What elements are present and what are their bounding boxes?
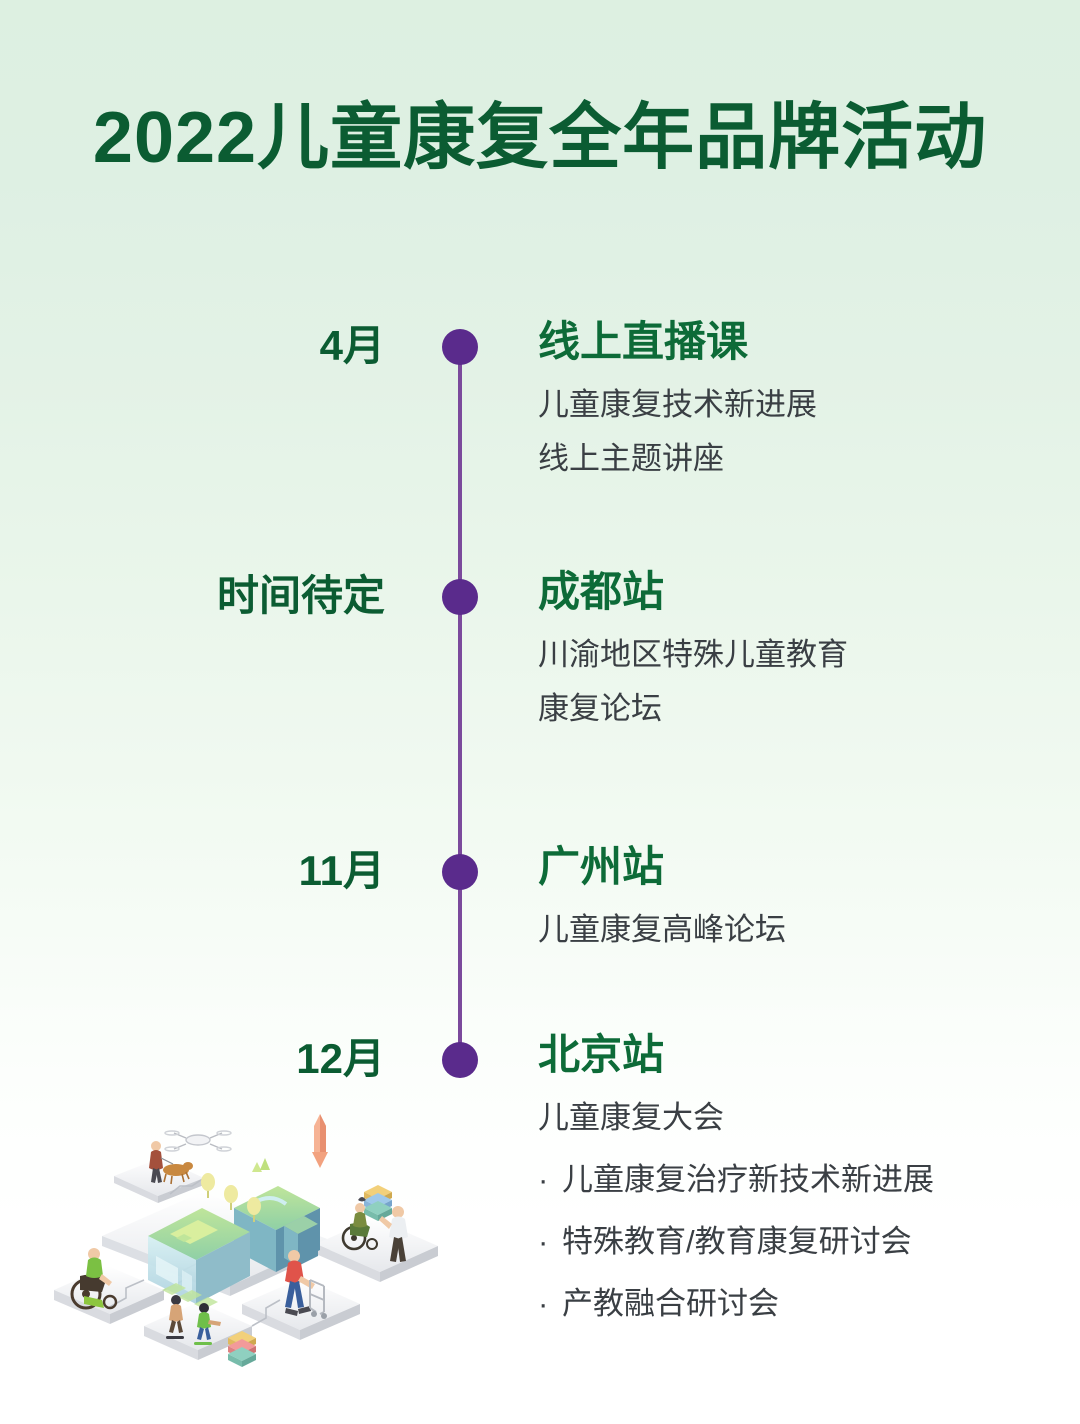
timeline-entry-heading: 成都站 [538, 564, 1048, 620]
timeline-entry-bullet-list: ·儿童康复治疗新技术新进展 ·特殊教育/教育康复研讨会 ·产教融合研讨会 [538, 1149, 1048, 1335]
timeline-entry-detail: 儿童康复技术新进展 [538, 378, 1048, 432]
timeline-dot[interactable] [442, 579, 478, 615]
book-stack-right [364, 1185, 392, 1221]
timeline-entry-detail: 线上主题讲座 [538, 432, 1048, 486]
timeline-entry-detail: 儿童康复高峰论坛 [538, 903, 1048, 957]
drone-icon [165, 1131, 231, 1151]
timeline-month-label: 11月 [60, 847, 385, 895]
timeline-entry-heading: 线上直播课 [538, 314, 1048, 370]
timeline-dot[interactable] [442, 329, 478, 365]
book-stack-bottom [228, 1331, 256, 1367]
bullet-dot-icon: · [538, 1211, 562, 1273]
list-item-label: 产教融合研讨会 [562, 1286, 779, 1321]
timeline-entry-detail: 川渝地区特殊儿童教育 [538, 628, 1048, 682]
timeline-month-label: 4月 [60, 322, 385, 370]
list-item: ·特殊教育/教育康复研讨会 [538, 1211, 1048, 1273]
poster-root: 2022儿童康复全年品牌活动 4月 线上直播课 儿童康复技术新进展 线上主题讲座… [0, 0, 1080, 1424]
timeline-entry-body: 广州站 儿童康复高峰论坛 [538, 839, 1048, 957]
bullet-dot-icon: · [538, 1273, 562, 1335]
timeline-axis-line [458, 347, 462, 1060]
isometric-rehabilitation-illustration [52, 1108, 482, 1378]
list-item-label: 儿童康复治疗新技术新进展 [562, 1162, 934, 1197]
timeline-month-label: 时间待定 [60, 572, 385, 620]
timeline-dot[interactable] [442, 854, 478, 890]
list-item: ·儿童康复治疗新技术新进展 [538, 1149, 1048, 1211]
timeline-entry-body: 线上直播课 儿童康复技术新进展 线上主题讲座 [538, 314, 1048, 486]
timeline-entry-body: 北京站 儿童康复大会 ·儿童康复治疗新技术新进展 ·特殊教育/教育康复研讨会 ·… [538, 1027, 1048, 1335]
timeline-dot[interactable] [442, 1042, 478, 1078]
list-item-label: 特殊教育/教育康复研讨会 [562, 1224, 912, 1259]
timeline-entry-detail: 康复论坛 [538, 682, 1048, 736]
list-item: ·产教融合研讨会 [538, 1273, 1048, 1335]
orange-marker-icon [312, 1114, 328, 1168]
timeline-entry-heading: 北京站 [538, 1027, 1048, 1083]
timeline-month-label: 12月 [60, 1035, 385, 1083]
bullet-dot-icon: · [538, 1149, 562, 1211]
timeline-entry-heading: 广州站 [538, 839, 1048, 895]
timeline-entry-body: 成都站 川渝地区特殊儿童教育 康复论坛 [538, 564, 1048, 736]
timeline-entry-detail: 儿童康复大会 [538, 1091, 1048, 1145]
